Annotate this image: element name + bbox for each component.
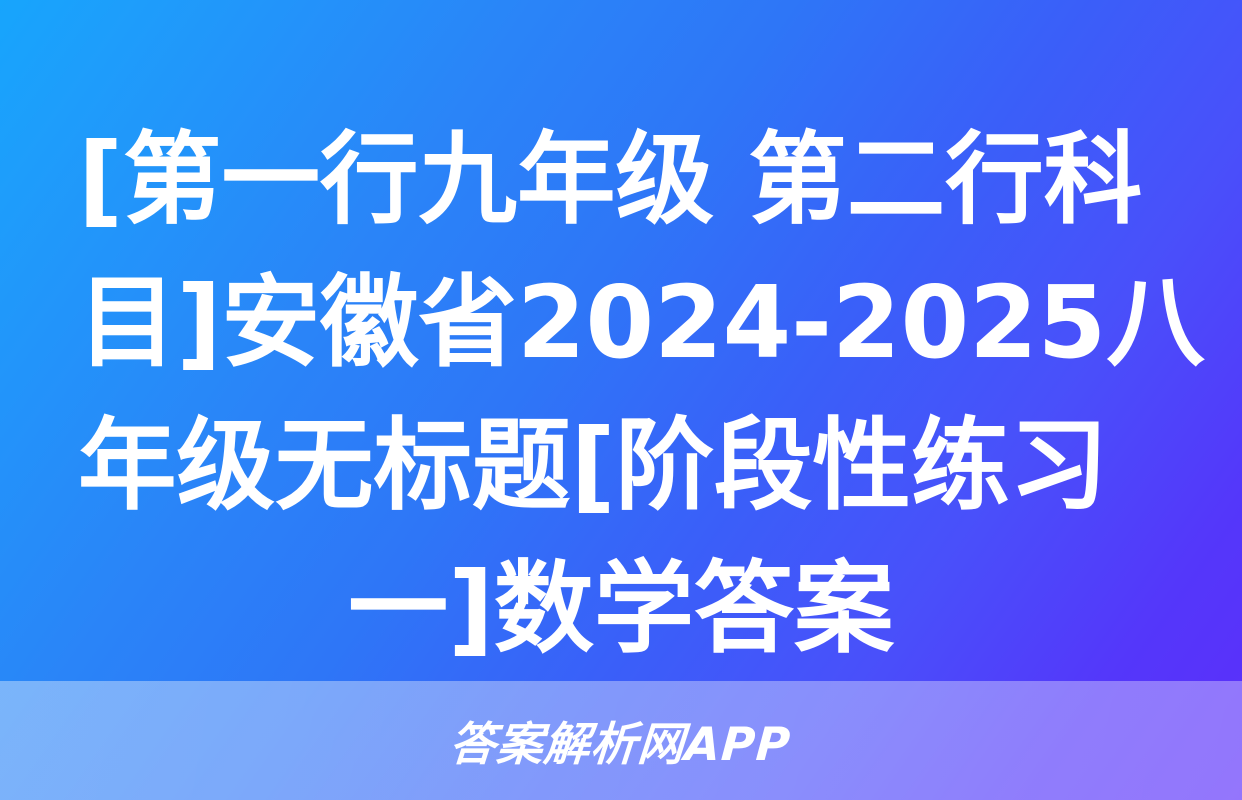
app-footer-bar: 答案解析网APP xyxy=(0,681,1242,800)
title-line-2: 目]安徽省2024-2025八 xyxy=(78,251,1148,394)
title-line-3: 年级无标题[阶段性练习 xyxy=(78,394,1148,537)
banner-title: [第一行九年级 第二行科 目]安徽省2024-2025八 年级无标题[阶段性练习… xyxy=(78,108,1164,680)
title-line-4: 一]数学答案 xyxy=(78,537,1164,680)
answer-cover-banner: [第一行九年级 第二行科 目]安徽省2024-2025八 年级无标题[阶段性练习… xyxy=(0,0,1242,800)
app-name-label: 答案解析网APP xyxy=(448,708,794,774)
title-line-1: [第一行九年级 第二行科 xyxy=(78,108,1148,251)
